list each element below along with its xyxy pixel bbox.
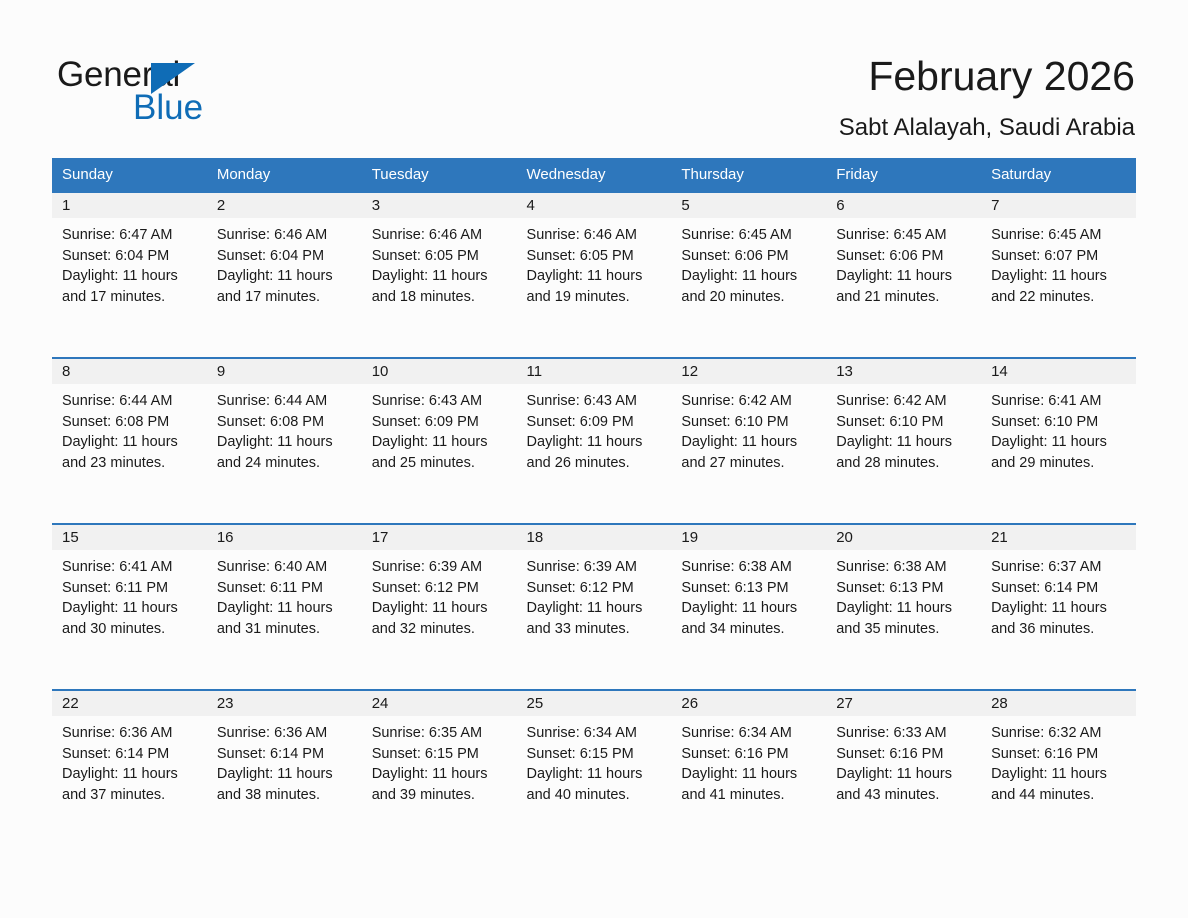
- day-cell[interactable]: 11 Sunrise: 6:43 AM Sunset: 6:09 PM Dayl…: [517, 358, 672, 524]
- daylight-text: Daylight: 11 hours and 20 minutes.: [681, 266, 818, 307]
- sunset-text: Sunset: 6:06 PM: [836, 246, 973, 267]
- day-number: 24: [372, 691, 389, 716]
- day-cell[interactable]: 15 Sunrise: 6:41 AM Sunset: 6:11 PM Dayl…: [52, 524, 207, 690]
- daylight-text: Daylight: 11 hours and 28 minutes.: [836, 432, 973, 473]
- day-number: 26: [681, 691, 698, 716]
- day-cell[interactable]: 2 Sunrise: 6:46 AM Sunset: 6:04 PM Dayli…: [207, 192, 362, 358]
- daylight-text: Daylight: 11 hours and 40 minutes.: [527, 764, 664, 805]
- day-details: Sunrise: 6:43 AM Sunset: 6:09 PM Dayligh…: [517, 384, 672, 473]
- sunset-text: Sunset: 6:07 PM: [991, 246, 1128, 267]
- sunrise-text: Sunrise: 6:46 AM: [217, 225, 354, 246]
- day-cell[interactable]: 4 Sunrise: 6:46 AM Sunset: 6:05 PM Dayli…: [517, 192, 672, 358]
- daylight-text: Daylight: 11 hours and 35 minutes.: [836, 598, 973, 639]
- day-details: Sunrise: 6:46 AM Sunset: 6:04 PM Dayligh…: [207, 218, 362, 307]
- sunset-text: Sunset: 6:06 PM: [681, 246, 818, 267]
- sunrise-text: Sunrise: 6:38 AM: [681, 557, 818, 578]
- daylight-text: Daylight: 11 hours and 27 minutes.: [681, 432, 818, 473]
- weekday-header-sunday: Sunday: [52, 158, 207, 192]
- sunset-text: Sunset: 6:14 PM: [62, 744, 199, 765]
- sunset-text: Sunset: 6:15 PM: [527, 744, 664, 765]
- day-cell[interactable]: 16 Sunrise: 6:40 AM Sunset: 6:11 PM Dayl…: [207, 524, 362, 690]
- day-cell[interactable]: 6 Sunrise: 6:45 AM Sunset: 6:06 PM Dayli…: [826, 192, 981, 358]
- day-cell[interactable]: 5 Sunrise: 6:45 AM Sunset: 6:06 PM Dayli…: [671, 192, 826, 358]
- sunset-text: Sunset: 6:04 PM: [217, 246, 354, 267]
- day-details: Sunrise: 6:42 AM Sunset: 6:10 PM Dayligh…: [826, 384, 981, 473]
- daylight-text: Daylight: 11 hours and 22 minutes.: [991, 266, 1128, 307]
- day-number-band: 1: [52, 193, 207, 218]
- day-number-band: 5: [671, 193, 826, 218]
- sunrise-text: Sunrise: 6:40 AM: [217, 557, 354, 578]
- daylight-text: Daylight: 11 hours and 24 minutes.: [217, 432, 354, 473]
- day-number: 17: [372, 525, 389, 550]
- day-number: 22: [62, 691, 79, 716]
- day-number: 20: [836, 525, 853, 550]
- day-details: Sunrise: 6:42 AM Sunset: 6:10 PM Dayligh…: [671, 384, 826, 473]
- calendar-header-row: Sunday Monday Tuesday Wednesday Thursday…: [52, 158, 1136, 192]
- day-number-band: 28: [981, 691, 1136, 716]
- day-number: 4: [527, 193, 535, 218]
- sunset-text: Sunset: 6:12 PM: [527, 578, 664, 599]
- day-number-band: 18: [517, 525, 672, 550]
- sunset-text: Sunset: 6:15 PM: [372, 744, 509, 765]
- logo-word-blue: Blue: [133, 87, 203, 129]
- day-number: 1: [62, 193, 70, 218]
- weekday-header-wednesday: Wednesday: [517, 158, 672, 192]
- day-number: 28: [991, 691, 1008, 716]
- sunrise-text: Sunrise: 6:45 AM: [681, 225, 818, 246]
- day-number: 2: [217, 193, 225, 218]
- sunrise-text: Sunrise: 6:32 AM: [991, 723, 1128, 744]
- day-details: Sunrise: 6:32 AM Sunset: 6:16 PM Dayligh…: [981, 716, 1136, 805]
- calendar-week-row: 8 Sunrise: 6:44 AM Sunset: 6:08 PM Dayli…: [52, 358, 1136, 524]
- sunrise-text: Sunrise: 6:36 AM: [62, 723, 199, 744]
- day-number: 7: [991, 193, 999, 218]
- day-cell[interactable]: 14 Sunrise: 6:41 AM Sunset: 6:10 PM Dayl…: [981, 358, 1136, 524]
- day-number: 9: [217, 359, 225, 384]
- day-cell[interactable]: 20 Sunrise: 6:38 AM Sunset: 6:13 PM Dayl…: [826, 524, 981, 690]
- sunset-text: Sunset: 6:10 PM: [836, 412, 973, 433]
- day-number-band: 24: [362, 691, 517, 716]
- day-cell[interactable]: 1 Sunrise: 6:47 AM Sunset: 6:04 PM Dayli…: [52, 192, 207, 358]
- day-details: Sunrise: 6:39 AM Sunset: 6:12 PM Dayligh…: [517, 550, 672, 639]
- day-cell[interactable]: 19 Sunrise: 6:38 AM Sunset: 6:13 PM Dayl…: [671, 524, 826, 690]
- sunset-text: Sunset: 6:14 PM: [217, 744, 354, 765]
- sunset-text: Sunset: 6:08 PM: [62, 412, 199, 433]
- daylight-text: Daylight: 11 hours and 18 minutes.: [372, 266, 509, 307]
- sunrise-text: Sunrise: 6:38 AM: [836, 557, 973, 578]
- daylight-text: Daylight: 11 hours and 26 minutes.: [527, 432, 664, 473]
- day-details: Sunrise: 6:34 AM Sunset: 6:16 PM Dayligh…: [671, 716, 826, 805]
- day-number: 25: [527, 691, 544, 716]
- day-cell[interactable]: 7 Sunrise: 6:45 AM Sunset: 6:07 PM Dayli…: [981, 192, 1136, 358]
- day-details: Sunrise: 6:33 AM Sunset: 6:16 PM Dayligh…: [826, 716, 981, 805]
- daylight-text: Daylight: 11 hours and 17 minutes.: [217, 266, 354, 307]
- daylight-text: Daylight: 11 hours and 31 minutes.: [217, 598, 354, 639]
- day-number-band: 8: [52, 359, 207, 384]
- day-number: 11: [527, 359, 543, 384]
- day-cell[interactable]: 27 Sunrise: 6:33 AM Sunset: 6:16 PM Dayl…: [826, 690, 981, 855]
- day-cell[interactable]: 26 Sunrise: 6:34 AM Sunset: 6:16 PM Dayl…: [671, 690, 826, 855]
- day-cell[interactable]: 21 Sunrise: 6:37 AM Sunset: 6:14 PM Dayl…: [981, 524, 1136, 690]
- sunset-text: Sunset: 6:09 PM: [527, 412, 664, 433]
- day-number-band: 20: [826, 525, 981, 550]
- sunrise-sunset-calendar: Sunday Monday Tuesday Wednesday Thursday…: [52, 158, 1136, 855]
- day-details: Sunrise: 6:47 AM Sunset: 6:04 PM Dayligh…: [52, 218, 207, 307]
- day-details: Sunrise: 6:38 AM Sunset: 6:13 PM Dayligh…: [826, 550, 981, 639]
- day-cell[interactable]: 13 Sunrise: 6:42 AM Sunset: 6:10 PM Dayl…: [826, 358, 981, 524]
- daylight-text: Daylight: 11 hours and 23 minutes.: [62, 432, 199, 473]
- daylight-text: Daylight: 11 hours and 30 minutes.: [62, 598, 199, 639]
- day-cell[interactable]: 9 Sunrise: 6:44 AM Sunset: 6:08 PM Dayli…: [207, 358, 362, 524]
- day-cell[interactable]: 24 Sunrise: 6:35 AM Sunset: 6:15 PM Dayl…: [362, 690, 517, 855]
- sunset-text: Sunset: 6:09 PM: [372, 412, 509, 433]
- day-details: Sunrise: 6:46 AM Sunset: 6:05 PM Dayligh…: [517, 218, 672, 307]
- day-details: Sunrise: 6:39 AM Sunset: 6:12 PM Dayligh…: [362, 550, 517, 639]
- day-details: Sunrise: 6:41 AM Sunset: 6:10 PM Dayligh…: [981, 384, 1136, 473]
- sunrise-text: Sunrise: 6:42 AM: [836, 391, 973, 412]
- day-number: 12: [681, 359, 698, 384]
- daylight-text: Daylight: 11 hours and 44 minutes.: [991, 764, 1128, 805]
- day-number-band: 25: [517, 691, 672, 716]
- day-cell[interactable]: 10 Sunrise: 6:43 AM Sunset: 6:09 PM Dayl…: [362, 358, 517, 524]
- daylight-text: Daylight: 11 hours and 36 minutes.: [991, 598, 1128, 639]
- weekday-header-tuesday: Tuesday: [362, 158, 517, 192]
- daylight-text: Daylight: 11 hours and 38 minutes.: [217, 764, 354, 805]
- day-number-band: 26: [671, 691, 826, 716]
- sunset-text: Sunset: 6:11 PM: [217, 578, 354, 599]
- sunrise-text: Sunrise: 6:33 AM: [836, 723, 973, 744]
- day-details: Sunrise: 6:44 AM Sunset: 6:08 PM Dayligh…: [52, 384, 207, 473]
- day-cell[interactable]: 17 Sunrise: 6:39 AM Sunset: 6:12 PM Dayl…: [362, 524, 517, 690]
- daylight-text: Daylight: 11 hours and 37 minutes.: [62, 764, 199, 805]
- day-details: Sunrise: 6:37 AM Sunset: 6:14 PM Dayligh…: [981, 550, 1136, 639]
- day-details: Sunrise: 6:44 AM Sunset: 6:08 PM Dayligh…: [207, 384, 362, 473]
- day-number: 21: [991, 525, 1008, 550]
- day-number-band: 14: [981, 359, 1136, 384]
- sunrise-text: Sunrise: 6:43 AM: [527, 391, 664, 412]
- day-number-band: 16: [207, 525, 362, 550]
- sunrise-text: Sunrise: 6:42 AM: [681, 391, 818, 412]
- day-details: Sunrise: 6:36 AM Sunset: 6:14 PM Dayligh…: [52, 716, 207, 805]
- sunrise-text: Sunrise: 6:36 AM: [217, 723, 354, 744]
- sunset-text: Sunset: 6:10 PM: [681, 412, 818, 433]
- sunset-text: Sunset: 6:16 PM: [836, 744, 973, 765]
- day-number-band: 7: [981, 193, 1136, 218]
- day-details: Sunrise: 6:40 AM Sunset: 6:11 PM Dayligh…: [207, 550, 362, 639]
- day-number: 16: [217, 525, 234, 550]
- day-details: Sunrise: 6:35 AM Sunset: 6:15 PM Dayligh…: [362, 716, 517, 805]
- day-number-band: 9: [207, 359, 362, 384]
- day-cell[interactable]: 3 Sunrise: 6:46 AM Sunset: 6:05 PM Dayli…: [362, 192, 517, 358]
- sunrise-text: Sunrise: 6:39 AM: [527, 557, 664, 578]
- day-details: Sunrise: 6:41 AM Sunset: 6:11 PM Dayligh…: [52, 550, 207, 639]
- day-number: 6: [836, 193, 844, 218]
- daylight-text: Daylight: 11 hours and 43 minutes.: [836, 764, 973, 805]
- daylight-text: Daylight: 11 hours and 33 minutes.: [527, 598, 664, 639]
- sunset-text: Sunset: 6:08 PM: [217, 412, 354, 433]
- day-details: Sunrise: 6:45 AM Sunset: 6:06 PM Dayligh…: [671, 218, 826, 307]
- sunrise-text: Sunrise: 6:34 AM: [681, 723, 818, 744]
- day-cell[interactable]: 22 Sunrise: 6:36 AM Sunset: 6:14 PM Dayl…: [52, 690, 207, 855]
- daylight-text: Daylight: 11 hours and 41 minutes.: [681, 764, 818, 805]
- daylight-text: Daylight: 11 hours and 25 minutes.: [372, 432, 509, 473]
- day-number-band: 11: [517, 359, 672, 384]
- day-number: 3: [372, 193, 380, 218]
- page-subtitle: Sabt Alalayah, Saudi Arabia: [839, 114, 1135, 142]
- day-details: Sunrise: 6:43 AM Sunset: 6:09 PM Dayligh…: [362, 384, 517, 473]
- sunrise-text: Sunrise: 6:41 AM: [991, 391, 1128, 412]
- daylight-text: Daylight: 11 hours and 32 minutes.: [372, 598, 509, 639]
- calendar-week-row: 15 Sunrise: 6:41 AM Sunset: 6:11 PM Dayl…: [52, 524, 1136, 690]
- day-number: 19: [681, 525, 698, 550]
- day-cell[interactable]: 18 Sunrise: 6:39 AM Sunset: 6:12 PM Dayl…: [517, 524, 672, 690]
- sunrise-text: Sunrise: 6:47 AM: [62, 225, 199, 246]
- day-number-band: 12: [671, 359, 826, 384]
- day-details: Sunrise: 6:34 AM Sunset: 6:15 PM Dayligh…: [517, 716, 672, 805]
- sunset-text: Sunset: 6:05 PM: [372, 246, 509, 267]
- day-cell[interactable]: 25 Sunrise: 6:34 AM Sunset: 6:15 PM Dayl…: [517, 690, 672, 855]
- daylight-text: Daylight: 11 hours and 17 minutes.: [62, 266, 199, 307]
- sunset-text: Sunset: 6:16 PM: [681, 744, 818, 765]
- day-number: 10: [372, 359, 389, 384]
- sunset-text: Sunset: 6:14 PM: [991, 578, 1128, 599]
- sunset-text: Sunset: 6:11 PM: [62, 578, 199, 599]
- sunrise-text: Sunrise: 6:39 AM: [372, 557, 509, 578]
- day-number-band: 6: [826, 193, 981, 218]
- day-cell[interactable]: 12 Sunrise: 6:42 AM Sunset: 6:10 PM Dayl…: [671, 358, 826, 524]
- sunrise-text: Sunrise: 6:45 AM: [836, 225, 973, 246]
- calendar-body: 1 Sunrise: 6:47 AM Sunset: 6:04 PM Dayli…: [52, 192, 1136, 855]
- day-number-band: 15: [52, 525, 207, 550]
- calendar-week-row: 1 Sunrise: 6:47 AM Sunset: 6:04 PM Dayli…: [52, 192, 1136, 358]
- page-title: February 2026: [868, 52, 1135, 100]
- sunrise-text: Sunrise: 6:34 AM: [527, 723, 664, 744]
- sunrise-text: Sunrise: 6:46 AM: [527, 225, 664, 246]
- calendar-table: Sunday Monday Tuesday Wednesday Thursday…: [52, 158, 1136, 855]
- day-number-band: 10: [362, 359, 517, 384]
- sunrise-text: Sunrise: 6:35 AM: [372, 723, 509, 744]
- day-number: 18: [527, 525, 544, 550]
- day-details: Sunrise: 6:36 AM Sunset: 6:14 PM Dayligh…: [207, 716, 362, 805]
- day-number: 13: [836, 359, 853, 384]
- day-number: 8: [62, 359, 70, 384]
- sunset-text: Sunset: 6:16 PM: [991, 744, 1128, 765]
- day-number-band: 13: [826, 359, 981, 384]
- day-number-band: 22: [52, 691, 207, 716]
- general-blue-logo[interactable]: General Blue: [57, 54, 317, 130]
- sunset-text: Sunset: 6:10 PM: [991, 412, 1128, 433]
- day-number-band: 3: [362, 193, 517, 218]
- sunset-text: Sunset: 6:04 PM: [62, 246, 199, 267]
- day-number-band: 19: [671, 525, 826, 550]
- weekday-header-friday: Friday: [826, 158, 981, 192]
- day-number: 5: [681, 193, 689, 218]
- sunrise-text: Sunrise: 6:37 AM: [991, 557, 1128, 578]
- day-number-band: 17: [362, 525, 517, 550]
- day-number-band: 23: [207, 691, 362, 716]
- day-number: 23: [217, 691, 234, 716]
- sunrise-text: Sunrise: 6:41 AM: [62, 557, 199, 578]
- sunrise-text: Sunrise: 6:43 AM: [372, 391, 509, 412]
- daylight-text: Daylight: 11 hours and 21 minutes.: [836, 266, 973, 307]
- sunset-text: Sunset: 6:12 PM: [372, 578, 509, 599]
- sunset-text: Sunset: 6:13 PM: [836, 578, 973, 599]
- day-number: 27: [836, 691, 853, 716]
- daylight-text: Daylight: 11 hours and 39 minutes.: [372, 764, 509, 805]
- day-details: Sunrise: 6:45 AM Sunset: 6:06 PM Dayligh…: [826, 218, 981, 307]
- daylight-text: Daylight: 11 hours and 19 minutes.: [527, 266, 664, 307]
- page-header: General Blue February 2026 Sabt Alalayah…: [0, 0, 1188, 152]
- daylight-text: Daylight: 11 hours and 29 minutes.: [991, 432, 1128, 473]
- weekday-header-monday: Monday: [207, 158, 362, 192]
- day-number-band: 27: [826, 691, 981, 716]
- day-cell[interactable]: 8 Sunrise: 6:44 AM Sunset: 6:08 PM Dayli…: [52, 358, 207, 524]
- sunrise-text: Sunrise: 6:45 AM: [991, 225, 1128, 246]
- day-cell[interactable]: 28 Sunrise: 6:32 AM Sunset: 6:16 PM Dayl…: [981, 690, 1136, 855]
- sunrise-text: Sunrise: 6:46 AM: [372, 225, 509, 246]
- sunset-text: Sunset: 6:05 PM: [527, 246, 664, 267]
- day-cell[interactable]: 23 Sunrise: 6:36 AM Sunset: 6:14 PM Dayl…: [207, 690, 362, 855]
- day-details: Sunrise: 6:45 AM Sunset: 6:07 PM Dayligh…: [981, 218, 1136, 307]
- daylight-text: Daylight: 11 hours and 34 minutes.: [681, 598, 818, 639]
- day-number-band: 2: [207, 193, 362, 218]
- day-number-band: 21: [981, 525, 1136, 550]
- day-details: Sunrise: 6:46 AM Sunset: 6:05 PM Dayligh…: [362, 218, 517, 307]
- calendar-week-row: 22 Sunrise: 6:36 AM Sunset: 6:14 PM Dayl…: [52, 690, 1136, 855]
- sunrise-text: Sunrise: 6:44 AM: [217, 391, 354, 412]
- weekday-header-saturday: Saturday: [981, 158, 1136, 192]
- calendar-page: General Blue February 2026 Sabt Alalayah…: [0, 0, 1188, 918]
- day-details: Sunrise: 6:38 AM Sunset: 6:13 PM Dayligh…: [671, 550, 826, 639]
- sunset-text: Sunset: 6:13 PM: [681, 578, 818, 599]
- sunrise-text: Sunrise: 6:44 AM: [62, 391, 199, 412]
- day-number-band: 4: [517, 193, 672, 218]
- weekday-header-thursday: Thursday: [671, 158, 826, 192]
- day-number: 15: [62, 525, 79, 550]
- day-number: 14: [991, 359, 1008, 384]
